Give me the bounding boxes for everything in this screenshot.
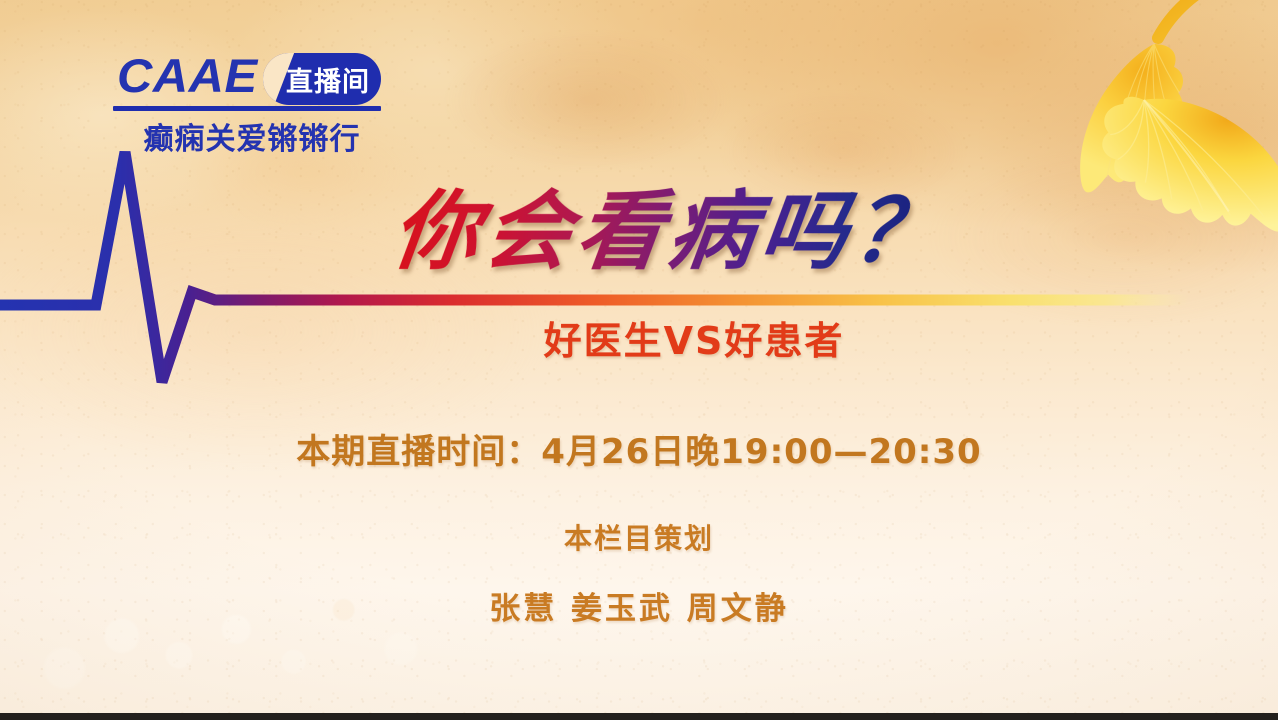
broadcast-time: 本期直播时间：4月26日晚19:00—20:30 <box>0 424 1278 473</box>
logo-live-badge-label: 直播间 <box>263 53 381 105</box>
logo-underline-rule <box>113 106 381 111</box>
logo-live-badge: 直播间 <box>263 53 381 105</box>
ginkgo-stem <box>1158 0 1272 38</box>
planner-label: 本栏目策划 <box>0 517 1278 557</box>
bottom-letterbox-bar <box>0 713 1278 720</box>
hero-title: 你会看病吗？ <box>0 180 1278 284</box>
info-block: 本期直播时间：4月26日晚19:00—20:30 本栏目策划 张慧 姜玉武 周文… <box>0 424 1278 628</box>
poster-canvas: CAAE 直播间 癫痫关爱锵锵行 <box>0 0 1278 720</box>
planner-names: 张慧 姜玉武 周文静 <box>0 583 1278 628</box>
hero-title-text: 你会看病吗？ <box>387 180 952 284</box>
logo-wordmark: CAAE <box>117 50 258 102</box>
logo-main-row: CAAE 直播间 <box>113 52 385 106</box>
hero-subtitle: 好医生VS好患者 <box>0 310 1278 365</box>
